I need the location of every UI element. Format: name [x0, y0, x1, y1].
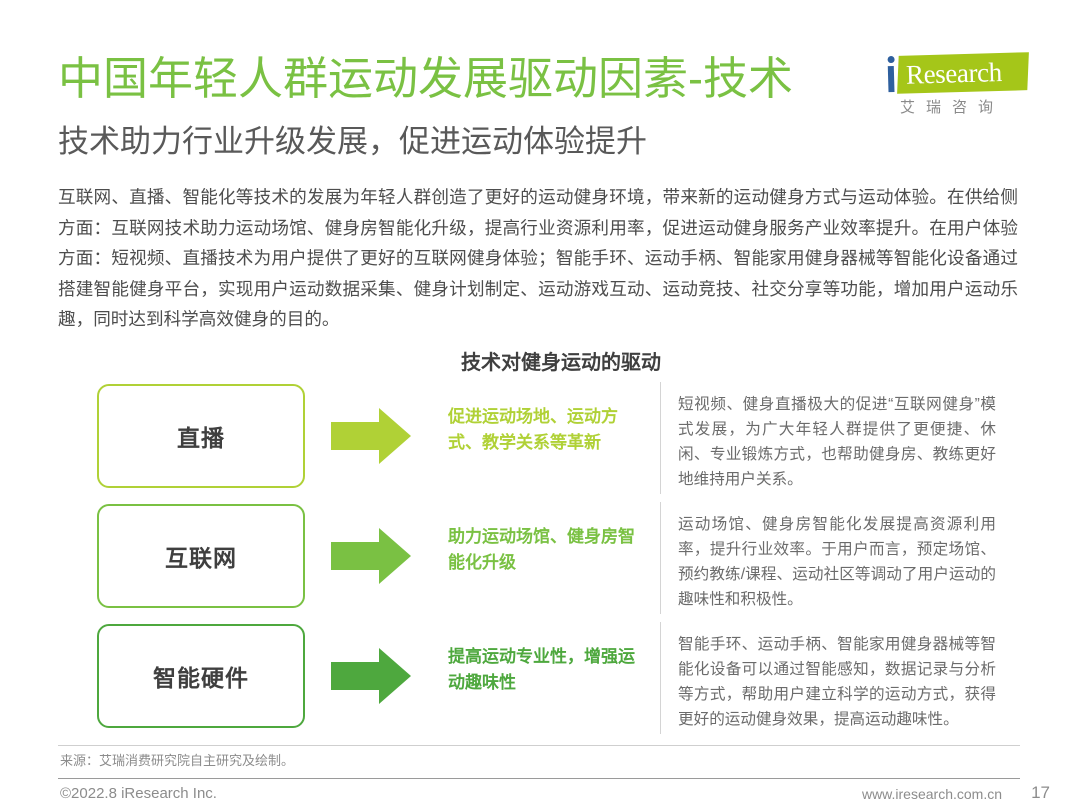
diagram-row: 直播 促进运动场地、运动方式、教学关系等革新 短视频、健身直播极大的促进“互联网…	[0, 380, 1080, 500]
diagram-title: 技术对健身运动的驱动	[0, 346, 1080, 375]
page-number: 17	[1031, 783, 1050, 803]
driver-tag-label: 互联网	[165, 539, 237, 573]
row-divider	[660, 382, 661, 494]
driver-description: 智能手环、运动手柄、智能家用健身器械等智能化设备可以通过智能感知，数据记录与分析…	[678, 632, 996, 732]
logo-wordmark: Research	[906, 55, 1031, 92]
copyright-text: ©2022.8 iResearch Inc.	[60, 785, 217, 802]
diagram-rows: 直播 促进运动场地、运动方式、教学关系等革新 短视频、健身直播极大的促进“互联网…	[0, 380, 1080, 740]
driver-description: 运动场馆、健身房智能化发展提高资源利用率，提升行业效率。于用户而言，预定场馆、预…	[678, 512, 996, 612]
driver-tag-label: 直播	[177, 419, 225, 453]
diagram-title-text: 技术对健身运动的驱动	[461, 352, 661, 374]
logo-i-dot	[887, 56, 894, 63]
driver-effect-text: 提高运动专业性，增强运动趣味性	[448, 644, 648, 696]
arrow-right-icon	[331, 648, 411, 704]
logo-i-stem	[888, 66, 895, 92]
driver-tag-label: 智能硬件	[153, 659, 249, 693]
driver-effect-text: 助力运动场馆、健身房智能化升级	[448, 524, 648, 576]
driver-tag-box[interactable]: 互联网	[97, 504, 305, 608]
footer-divider	[58, 778, 1020, 779]
source-note: 来源：艾瑞消费研究院自主研究及绘制。	[60, 750, 294, 769]
slide-header: 中国年轻人群运动发展驱动因素-技术 技术助力行业升级发展，促进运动体验提升 Re…	[0, 0, 1080, 172]
iresearch-logo: Research 艾瑞咨询	[880, 52, 1030, 128]
page-title: 中国年轻人群运动发展驱动因素-技术	[58, 52, 793, 106]
source-divider	[58, 745, 1020, 746]
lead-paragraph: 互联网、直播、智能化等技术的发展为年轻人群创造了更好的运动健身环境，带来新的运动…	[58, 182, 1018, 335]
arrow-right-icon	[331, 528, 411, 584]
arrow-right-icon	[331, 408, 411, 464]
row-divider	[660, 622, 661, 734]
website-url: www.iresearch.com.cn	[862, 786, 1002, 802]
logo-letter-i-icon	[885, 56, 902, 92]
driver-description: 短视频、健身直播极大的促进“互联网健身”模式发展，为广大年轻人群提供了更便捷、休…	[678, 392, 996, 492]
driver-tag-box[interactable]: 直播	[97, 384, 305, 488]
logo-chinese-name: 艾瑞咨询	[900, 96, 1028, 117]
driver-tag-box[interactable]: 智能硬件	[97, 624, 305, 728]
diagram-row: 互联网 助力运动场馆、健身房智能化升级 运动场馆、健身房智能化发展提高资源利用率…	[0, 500, 1080, 620]
driver-effect-text: 促进运动场地、运动方式、教学关系等革新	[448, 404, 648, 456]
page-subtitle: 技术助力行业升级发展，促进运动体验提升	[58, 122, 647, 162]
row-divider	[660, 502, 661, 614]
diagram-row: 智能硬件 提高运动专业性，增强运动趣味性 智能手环、运动手柄、智能家用健身器械等…	[0, 620, 1080, 740]
